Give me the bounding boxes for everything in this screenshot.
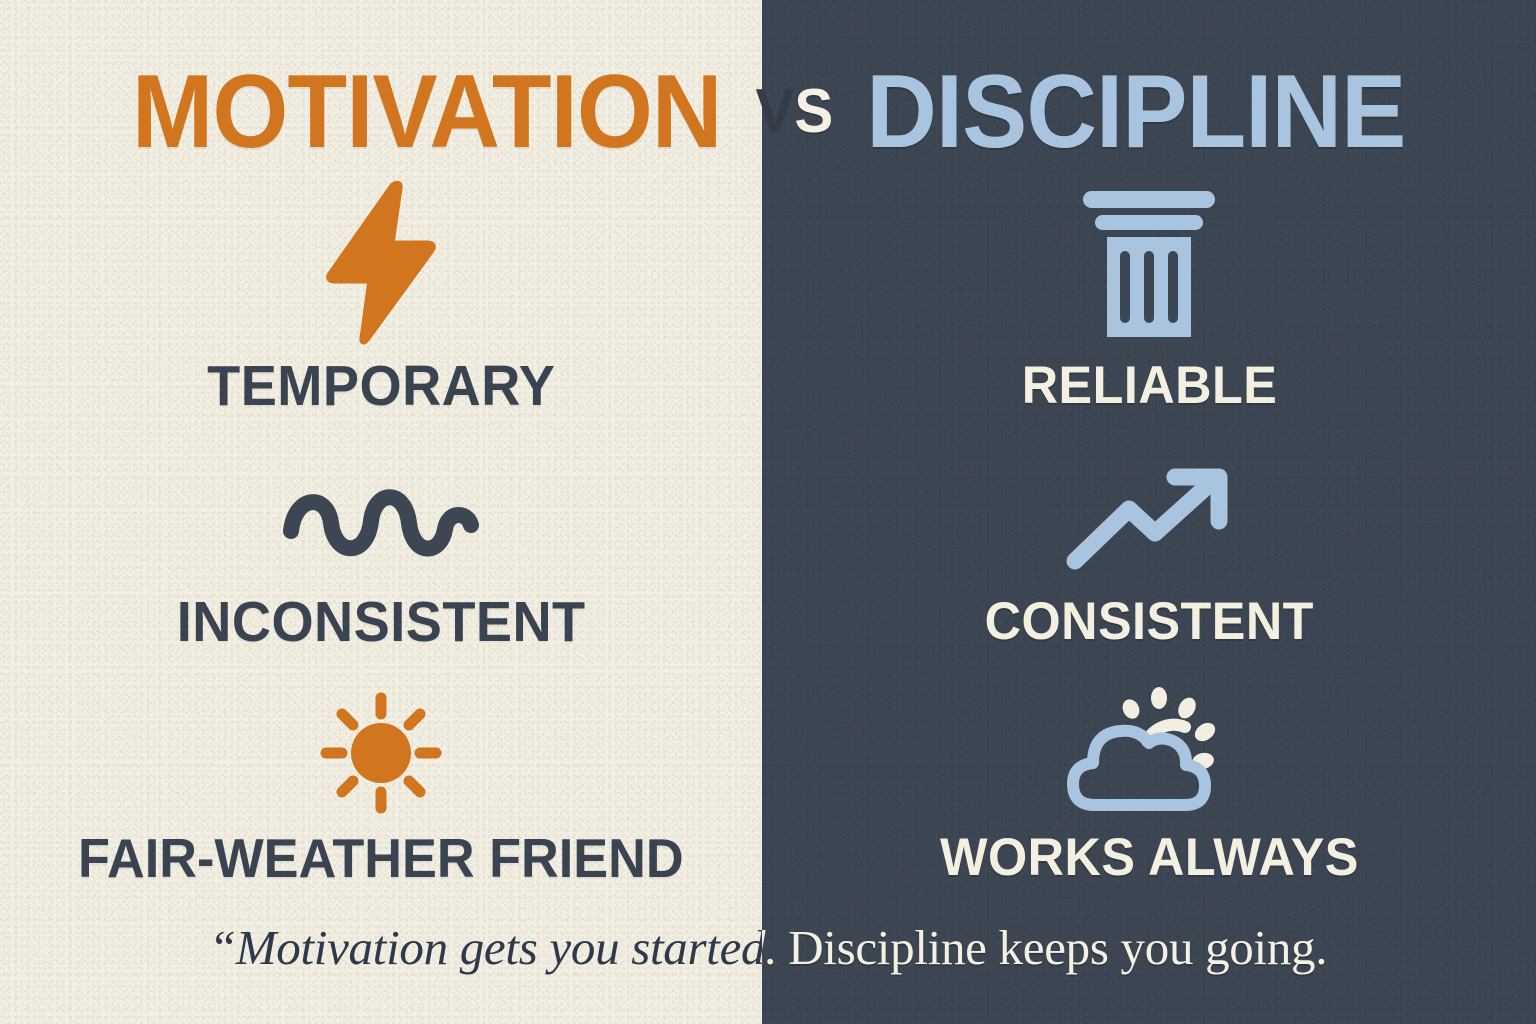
poster-title: MOTIVATION VS DISCIPLINE [0, 56, 1536, 168]
motivation-item-inconsistent: INCONSISTENT [0, 416, 762, 652]
motivation-item-fair-weather-friend: FAIR-WEATHER FRIEND [0, 652, 762, 888]
wavy-line-icon [281, 458, 481, 578]
discipline-item-reliable: RELIABLE [762, 178, 1536, 416]
footer-quote-part-one: “Motivation gets you started. [209, 908, 777, 988]
title-vs-v: V [755, 77, 794, 146]
discipline-label-reliable: RELIABLE [1021, 356, 1277, 416]
discipline-column: RELIABLE CONSISTENT [762, 178, 1536, 938]
title-vs: VS [755, 60, 833, 164]
sun-icon [318, 688, 444, 818]
motivation-vs-discipline-poster: MOTIVATION VS DISCIPLINE TEMPORARY INCON… [0, 0, 1536, 1024]
sun-behind-cloud-icon [1063, 688, 1235, 818]
title-word-discipline: DISCIPLINE [866, 60, 1405, 164]
discipline-label-works-always: WORKS ALWAYS [940, 828, 1359, 888]
motivation-label-temporary: TEMPORARY [207, 356, 555, 416]
motivation-column: TEMPORARY INCONSISTENT [0, 178, 762, 938]
discipline-label-consistent: CONSISTENT [984, 592, 1313, 652]
discipline-item-consistent: CONSISTENT [762, 416, 1536, 652]
discipline-item-works-always: WORKS ALWAYS [762, 652, 1536, 888]
motivation-item-temporary: TEMPORARY [0, 178, 762, 416]
title-word-motivation: MOTIVATION [132, 60, 722, 164]
title-vs-s: S [794, 77, 833, 146]
trending-up-arrow-icon [1063, 458, 1235, 578]
motivation-label-fair-weather-friend: FAIR-WEATHER FRIEND [78, 828, 684, 888]
column-pillar-icon [1079, 178, 1219, 348]
lightning-bolt-icon [323, 178, 439, 348]
motivation-label-inconsistent: INCONSISTENT [177, 592, 586, 652]
footer-quote-part-two-light: Discipline keeps you going. [788, 908, 1327, 988]
footer-quote: “Motivation gets you started.Discipline … [0, 908, 1536, 988]
